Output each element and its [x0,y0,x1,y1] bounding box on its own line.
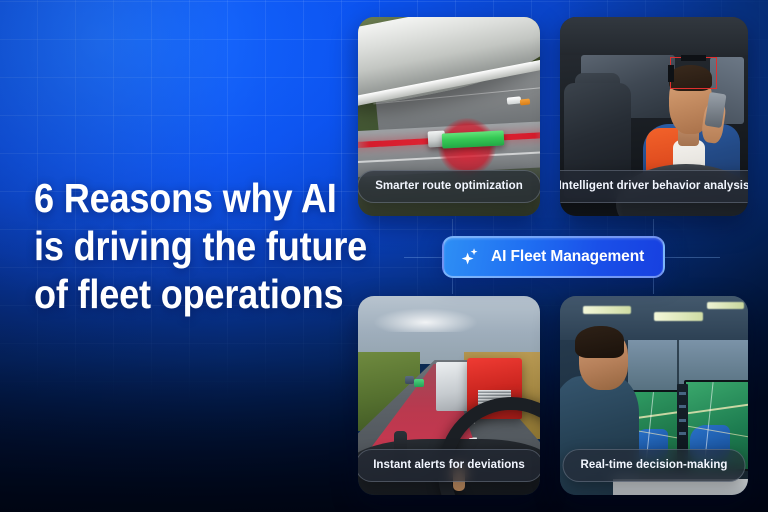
card-label-instant-alerts-for-deviations: Instant alerts for deviations [358,449,540,482]
card-instant-alerts-for-deviations[interactable]: Instant alerts for deviations [358,296,540,495]
face-detection-bracket [670,57,717,89]
card-real-time-decision-making[interactable]: Real-time decision-making [560,296,748,495]
card-smarter-route-optimization[interactable]: Smarter route optimization [358,17,540,216]
connector-horizontal-left [404,257,444,258]
card-label-real-time-decision-making: Real-time decision-making [563,449,746,482]
card-intelligent-driver-behavior-analysis[interactable]: Intelligent driver behavior analysis [560,17,748,216]
badge-label: AI Fleet Management [491,248,644,266]
connector-horizontal-right [660,257,720,258]
poster-canvas: 6 Reasons why AI is driving the future o… [0,0,768,512]
card-label-intelligent-driver-behavior-analysis: Intelligent driver behavior analysis [560,170,748,203]
sparkle-ai-icon [459,246,481,268]
ai-fleet-management-badge[interactable]: AI Fleet Management [442,236,665,278]
card-label-smarter-route-optimization: Smarter route optimization [358,170,540,203]
